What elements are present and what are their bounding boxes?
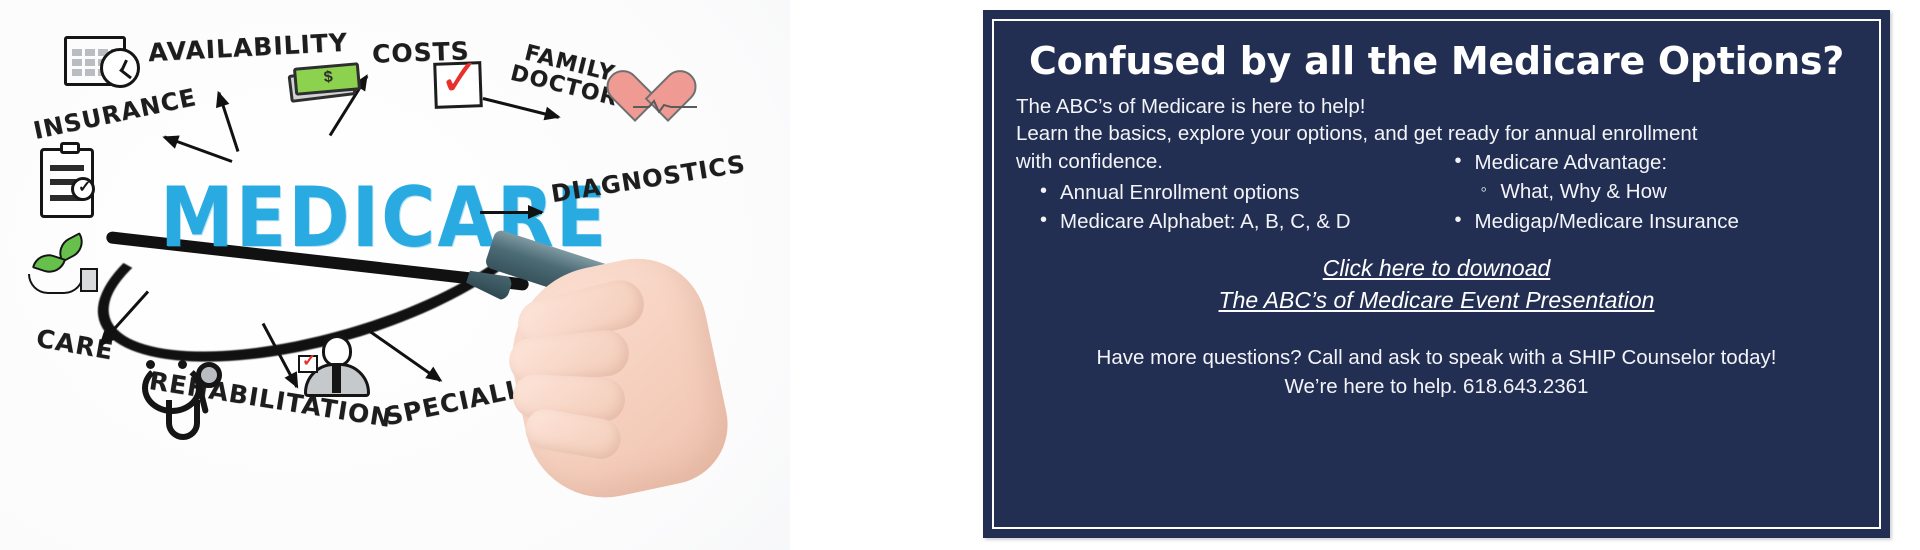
closing-message: Have more questions? Call and ask to spe…: [1016, 344, 1857, 401]
topics-bullet-columns: Annual Enrollment options Medicare Alpha…: [1016, 148, 1857, 237]
person-approved-icon: [300, 335, 376, 401]
clock-icon: [100, 48, 140, 88]
list-item: Medicare Alphabet: A, B, C, & D: [1038, 207, 1443, 237]
closing-line-2: We’re here to help. 618.643.2361: [1016, 373, 1857, 402]
bullet-list-left: Annual Enrollment options Medicare Alpha…: [1038, 178, 1443, 237]
page-root: MEDICARE AVAILABILITY INSURANCE COSTS FA…: [0, 0, 1920, 550]
download-link-block[interactable]: Click here to downoad The ABC’s of Medic…: [1016, 255, 1857, 318]
download-link-line-2[interactable]: The ABC’s of Medicare Event Presentation: [1219, 287, 1655, 315]
arrow-to-family-doctor: [483, 97, 559, 119]
bullet-sublist-right: What, Why & How: [1453, 177, 1858, 207]
plant-in-hand-icon: [28, 238, 108, 300]
download-link-line-1[interactable]: Click here to downoad: [1323, 255, 1551, 283]
medicare-promo-banner: Confused by all the Medicare Options? Th…: [983, 10, 1890, 538]
arrow-to-specialists: [369, 330, 441, 382]
arrow-to-availability: [217, 92, 239, 152]
intro-line-1: The ABC’s of Medicare is here to help!: [1016, 93, 1857, 121]
list-item: Medicare Advantage:: [1453, 148, 1858, 178]
heartbeat-icon: [633, 72, 699, 130]
bullet-column-left: Annual Enrollment options Medicare Alpha…: [1016, 148, 1443, 237]
list-item: Medigap/Medicare Insurance: [1453, 207, 1858, 237]
bullet-column-right: Medicare Advantage: What, Why & How Medi…: [1443, 148, 1858, 237]
closing-line-1: Have more questions? Call and ask to spe…: [1016, 344, 1857, 373]
intro-line-2: Learn the basics, explore your options, …: [1016, 120, 1857, 148]
red-checkmark-box-icon: ✓: [433, 61, 483, 109]
label-diagnostics: DIAGNOSTICS: [549, 150, 748, 208]
stethoscope-icon: [140, 360, 236, 446]
list-item: Annual Enrollment options: [1038, 178, 1443, 208]
banner-inner-frame: Confused by all the Medicare Options? Th…: [992, 19, 1881, 529]
clipboard-checklist-icon: [40, 148, 94, 218]
banner-title: Confused by all the Medicare Options?: [1016, 40, 1857, 83]
label-family-doctor: FAMILY DOCTOR: [508, 39, 626, 110]
bullet-list-right: Medicare Advantage: What, Why & How Medi…: [1453, 148, 1858, 237]
list-item: What, Why & How: [1479, 177, 1858, 207]
arrow-to-diagnostics: [480, 211, 542, 214]
money-bills-icon: [289, 62, 363, 102]
pulse-line-icon: [633, 99, 697, 113]
medicare-concept-illustration: MEDICARE AVAILABILITY INSURANCE COSTS FA…: [0, 0, 790, 550]
arrow-to-insurance: [164, 135, 233, 162]
hand-holding-marker: [455, 230, 790, 550]
